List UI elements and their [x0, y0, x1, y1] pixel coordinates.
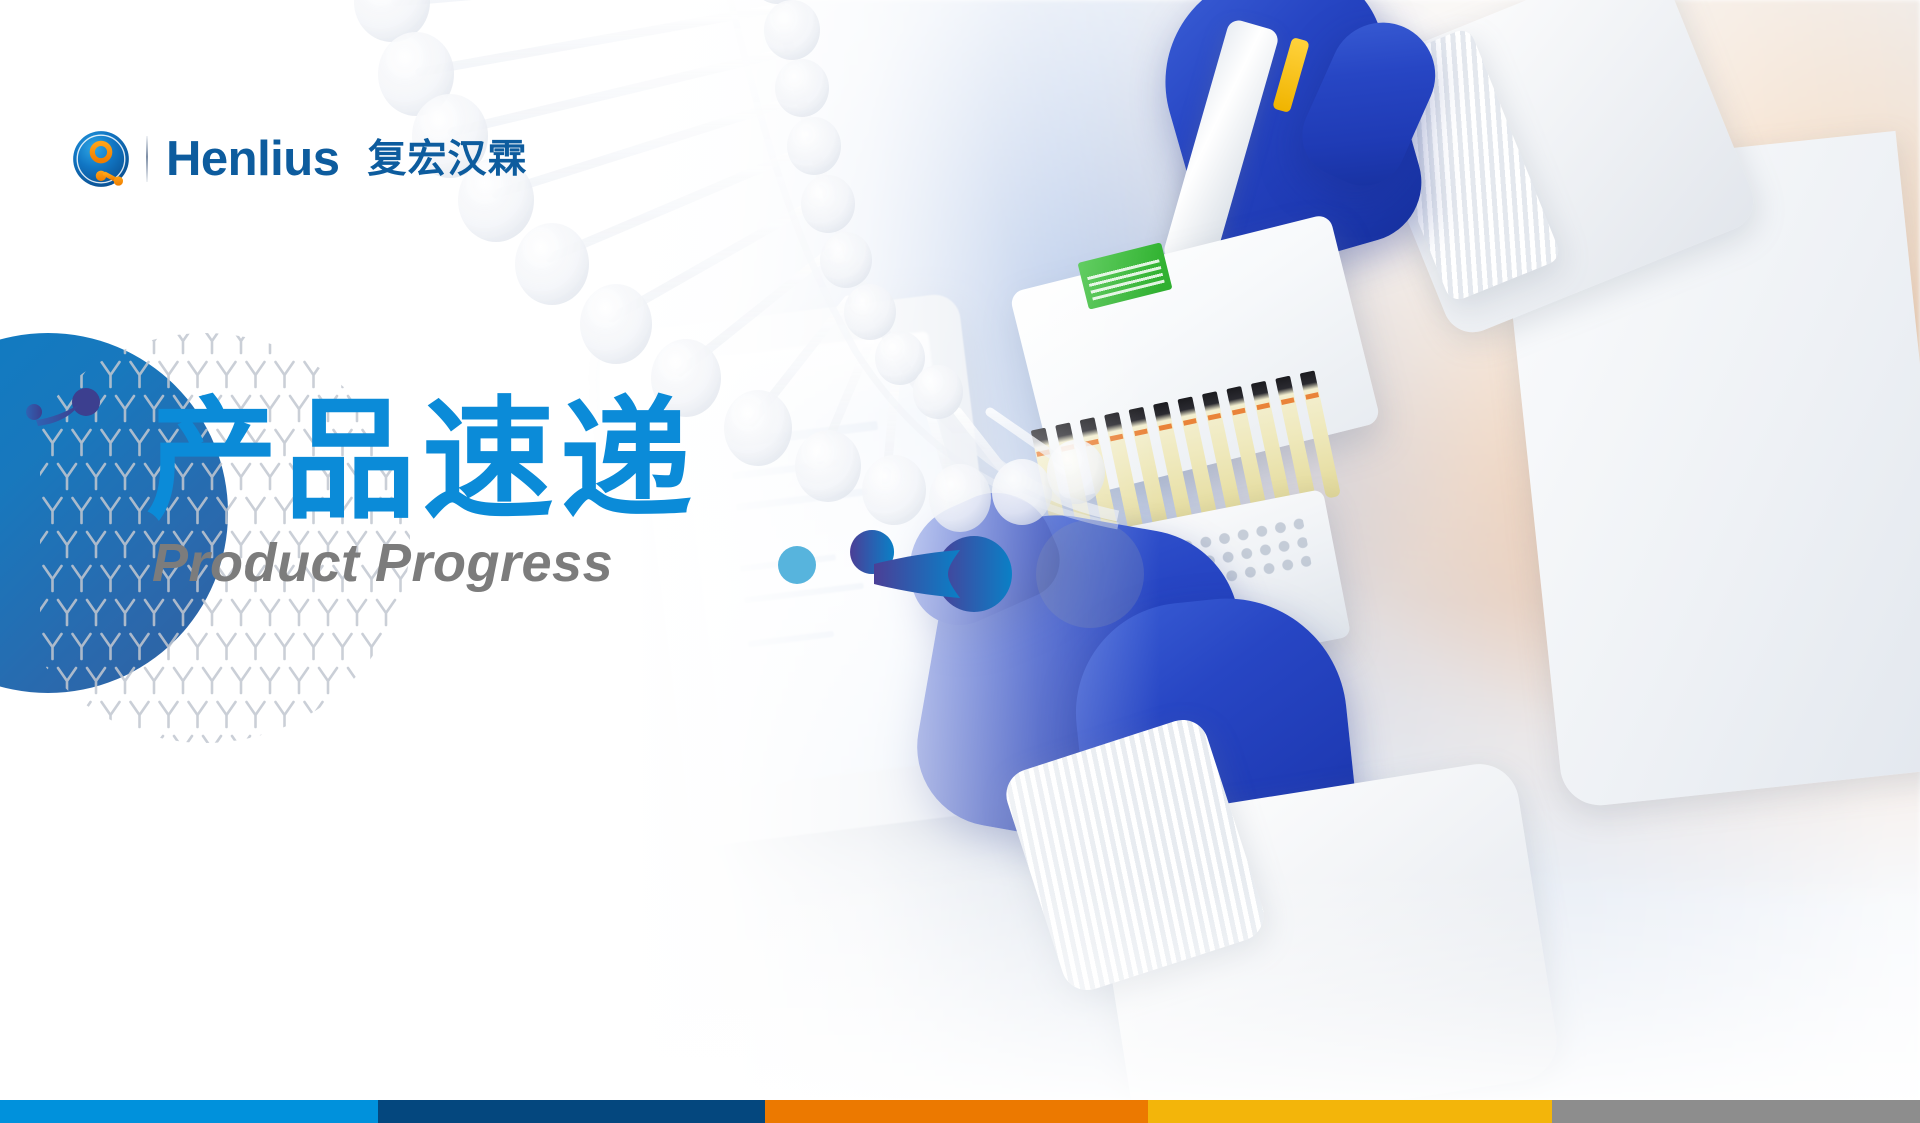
molecule-dumbbell-icon [848, 528, 1028, 620]
slide-root: Henlius 复宏汉霖 产品速递 Product Progress [0, 0, 1920, 1123]
logo-divider [146, 136, 148, 182]
molecule-small-icon [22, 388, 102, 438]
page-title-en: Product Progress [152, 536, 613, 590]
bottom-bar-segment-yellow [1148, 1100, 1552, 1123]
bottom-bar-segment-orange [765, 1100, 1148, 1123]
henlius-circle-mark-icon [72, 130, 130, 188]
brand-name-cn: 复宏汉霖 [367, 140, 527, 179]
bottom-bar-segment-dark-blue [378, 1100, 765, 1123]
accent-dot [778, 546, 816, 584]
photo-bottom-fade [600, 870, 1920, 1100]
page-title-cn: 产品速递 [146, 388, 698, 536]
bottom-bar-segment-light-blue [0, 1100, 378, 1123]
brand-logo[interactable]: Henlius 复宏汉霖 [72, 124, 528, 194]
ghost-circle [1036, 520, 1144, 628]
brand-name-en: Henlius [166, 135, 339, 184]
bottom-bar-segment-gray [1552, 1100, 1920, 1123]
bottom-color-bar [0, 1100, 1920, 1123]
